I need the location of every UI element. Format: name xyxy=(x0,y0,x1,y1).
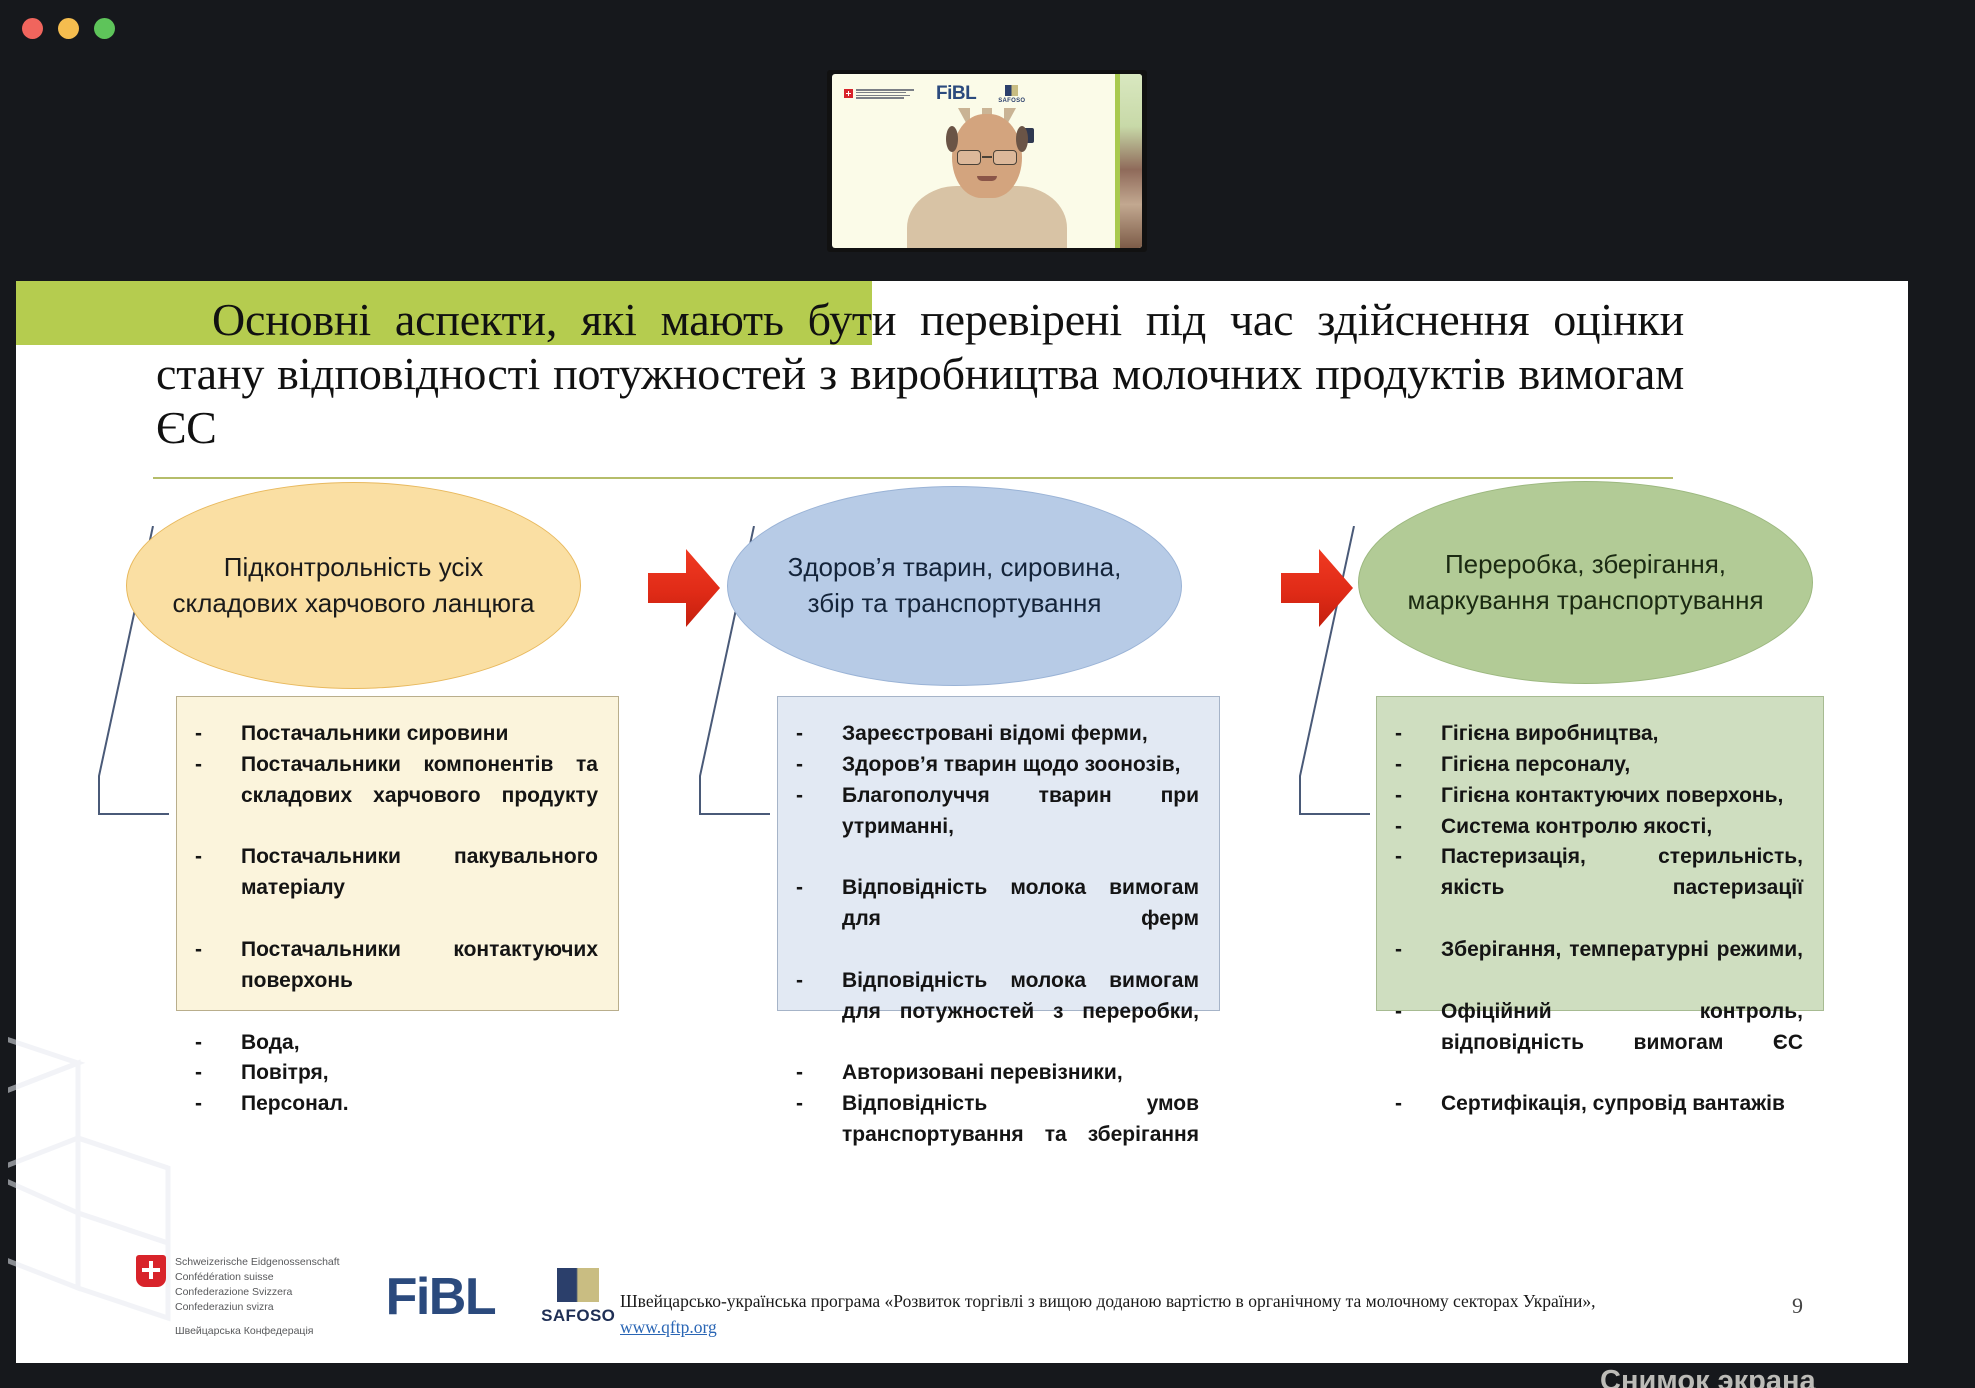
swiss-line-de: Schweizerische Eidgenossenschaft xyxy=(175,1256,340,1268)
list-item-label: Гігієна контактуючих поверхонь, xyxy=(1441,781,1803,812)
list-item-label: Відповідність молока вимогам для ферм xyxy=(842,873,1199,966)
presenter-video-tile[interactable]: FiBL SAFOSO xyxy=(827,70,1147,252)
footer-logos: Schweizerische Eidgenossenschaft Confédé… xyxy=(136,1255,615,1339)
list-item-dash: - xyxy=(195,1089,241,1120)
list-item: -Зареєстровані відомі ферми, xyxy=(796,719,1199,750)
list-item-dash: - xyxy=(796,719,842,750)
list-item-label: Відповідність молока вимогам для потужно… xyxy=(842,966,1199,1059)
list-item-dash: - xyxy=(796,873,842,904)
list-item: -Постачальники контактуючих поверхонь xyxy=(195,935,598,1028)
swiss-line-fr: Confédération suisse xyxy=(175,1271,274,1283)
window-titlebar xyxy=(0,0,1975,60)
stage-list-box-1: -Постачальники сировини-Постачальники ко… xyxy=(176,696,619,1011)
list-item-dash: - xyxy=(1395,997,1441,1028)
fibl-logo-footer: FiBL xyxy=(386,1271,496,1323)
video-overlay-logos: FiBL SAFOSO xyxy=(844,83,1025,105)
swiss-line-it: Confederazione Svizzera xyxy=(175,1286,292,1298)
list-item: -Відповідність молока вимогам для ферм xyxy=(796,873,1199,966)
list-item-dash: - xyxy=(1395,935,1441,966)
list-item: -Гігієна контактуючих поверхонь, xyxy=(1395,781,1803,812)
list-item-dash: - xyxy=(796,1058,842,1089)
list-item: -Пастеризація, стерильність, якість паст… xyxy=(1395,842,1803,935)
list-item: -Система контролю якості, xyxy=(1395,812,1803,843)
flow-arrow-right-icon-2 xyxy=(1279,545,1355,631)
list-item: -Постачальники компонентів та складових … xyxy=(195,750,598,843)
list-item-label: Постачальники контактуючих поверхонь xyxy=(241,935,598,1028)
list-item-dash: - xyxy=(195,1028,241,1059)
title-underline-rule xyxy=(153,477,1673,479)
list-item-label: Пастеризація, стерильність, якість пасте… xyxy=(1441,842,1803,935)
maximize-button-icon[interactable] xyxy=(94,18,115,39)
bottom-caption-strip: Снимок экрана xyxy=(0,1363,1975,1388)
swiss-line-ua: Швейцарська Конфедерація xyxy=(175,1324,340,1339)
stage-ellipse-2: Здоров’я тварин, сировина, збір та транс… xyxy=(727,486,1182,686)
flow-arrow-right-icon-1 xyxy=(646,545,722,631)
list-item-label: Офіційний контроль, відповідність вимога… xyxy=(1441,997,1803,1090)
list-item: -Постачальники пакувального матеріалу xyxy=(195,842,598,935)
program-url-link[interactable]: www.qftp.org xyxy=(620,1314,1730,1341)
list-item-dash: - xyxy=(195,1058,241,1089)
list-item-dash: - xyxy=(1395,1089,1441,1120)
list-item-dash: - xyxy=(195,750,241,781)
close-button-icon[interactable] xyxy=(22,18,43,39)
list-item: -Здоров’я тварин щодо зоонозів, xyxy=(796,750,1199,781)
app-window: FiBL SAFOSO xyxy=(0,0,1975,1388)
list-item: -Відповідність молока вимогам для потужн… xyxy=(796,966,1199,1059)
fibl-logo: FiBL xyxy=(936,83,976,105)
swiss-confederation-icon xyxy=(844,89,914,99)
list-item: -Персонал. xyxy=(195,1089,598,1120)
list-item: -Благополуччя тварин при утриманні, xyxy=(796,781,1199,874)
list-item-dash: - xyxy=(796,750,842,781)
slide-page-number: 9 xyxy=(1792,1293,1803,1319)
list-item-dash: - xyxy=(1395,842,1441,873)
list-item-label: Гігієна виробництва, xyxy=(1441,719,1803,750)
list-item-label: Постачальники компонентів та складових х… xyxy=(241,750,598,843)
list-item-dash: - xyxy=(796,781,842,812)
list-item: -Офіційний контроль, відповідність вимог… xyxy=(1395,997,1803,1090)
list-item-label: Вода, xyxy=(241,1028,598,1059)
list-item-dash: - xyxy=(796,1089,842,1120)
list-item-dash: - xyxy=(1395,781,1441,812)
swiss-confederation-logo: Schweizerische Eidgenossenschaft Confédé… xyxy=(136,1255,340,1339)
list-item-label: Відповідність умов транспортування та зб… xyxy=(842,1089,1199,1182)
list-item-label: Персонал. xyxy=(241,1089,598,1120)
list-item-label: Здоров’я тварин щодо зоонозів, xyxy=(842,750,1199,781)
list-item-label: Благополуччя тварин при утриманні, xyxy=(842,781,1199,874)
safoso-logo-footer: SAFOSO xyxy=(541,1268,615,1326)
safoso-mark-icon-footer xyxy=(557,1268,599,1302)
stage-ellipse-3: Переробка, зберігання, маркування трансп… xyxy=(1358,481,1813,684)
list-item: -Гігієна виробництва, xyxy=(1395,719,1803,750)
swiss-cross-icon xyxy=(136,1255,166,1287)
list-item-dash: - xyxy=(1395,719,1441,750)
list-item: -Гігієна персоналу, xyxy=(1395,750,1803,781)
list-item: -Сертифікація, супровід вантажів xyxy=(1395,1089,1803,1120)
list-item-label: Система контролю якості, xyxy=(1441,812,1803,843)
list-item: -Відповідність умов транспортування та з… xyxy=(796,1089,1199,1182)
list-item-dash: - xyxy=(195,719,241,750)
stage-ellipse-1: Підконтрольність усіх складових харчовог… xyxy=(126,482,581,689)
safoso-wordmark: SAFOSO xyxy=(541,1306,615,1326)
list-item-dash: - xyxy=(195,842,241,873)
list-item-label: Зберігання, температурні режими, xyxy=(1441,935,1803,997)
footer-program-text: Швейцарсько-українська програма «Розвито… xyxy=(620,1288,1730,1341)
list-item-dash: - xyxy=(1395,750,1441,781)
program-description: Швейцарсько-українська програма «Розвито… xyxy=(620,1291,1595,1311)
list-item-dash: - xyxy=(1395,812,1441,843)
safoso-mark-icon xyxy=(1005,85,1018,96)
list-item-label: Зареєстровані відомі ферми, xyxy=(842,719,1199,750)
list-item: -Зберігання, температурні режими, xyxy=(1395,935,1803,997)
minimize-button-icon[interactable] xyxy=(58,18,79,39)
list-item-label: Сертифікація, супровід вантажів xyxy=(1441,1089,1803,1120)
swiss-line-rm: Confederaziun svizra xyxy=(175,1301,274,1313)
list-item-label: Постачальники пакувального матеріалу xyxy=(241,842,598,935)
window-controls xyxy=(22,18,115,39)
list-item: -Вода, xyxy=(195,1028,598,1059)
safoso-logo: SAFOSO xyxy=(998,85,1025,104)
list-item-label: Гігієна персоналу, xyxy=(1441,750,1803,781)
list-item-label: Повітря, xyxy=(241,1058,598,1089)
shared-slide-edge xyxy=(1120,74,1142,248)
list-item-label: Авторизовані перевізники, xyxy=(842,1058,1199,1089)
presentation-slide: Основні аспекти, які мають бути перевіре… xyxy=(16,281,1908,1363)
list-item: -Авторизовані перевізники, xyxy=(796,1058,1199,1089)
stage-list-box-3: -Гігієна виробництва,-Гігієна персоналу,… xyxy=(1376,696,1824,1011)
stage-list-box-2: -Зареєстровані відомі ферми,-Здоров’я тв… xyxy=(777,696,1220,1011)
slide-title: Основні аспекти, які мають бути перевіре… xyxy=(156,293,1684,454)
glasses-icon xyxy=(957,150,1017,165)
screenshot-caption: Снимок экрана xyxy=(1600,1365,1816,1388)
list-item-dash: - xyxy=(796,966,842,997)
list-item: -Повітря, xyxy=(195,1058,598,1089)
list-item-dash: - xyxy=(195,935,241,966)
video-frame: FiBL SAFOSO xyxy=(832,74,1142,248)
swiss-confederation-text: Schweizerische Eidgenossenschaft Confédé… xyxy=(175,1255,340,1339)
presenter-figure xyxy=(902,106,1072,248)
list-item: -Постачальники сировини xyxy=(195,719,598,750)
list-item-label: Постачальники сировини xyxy=(241,719,598,750)
